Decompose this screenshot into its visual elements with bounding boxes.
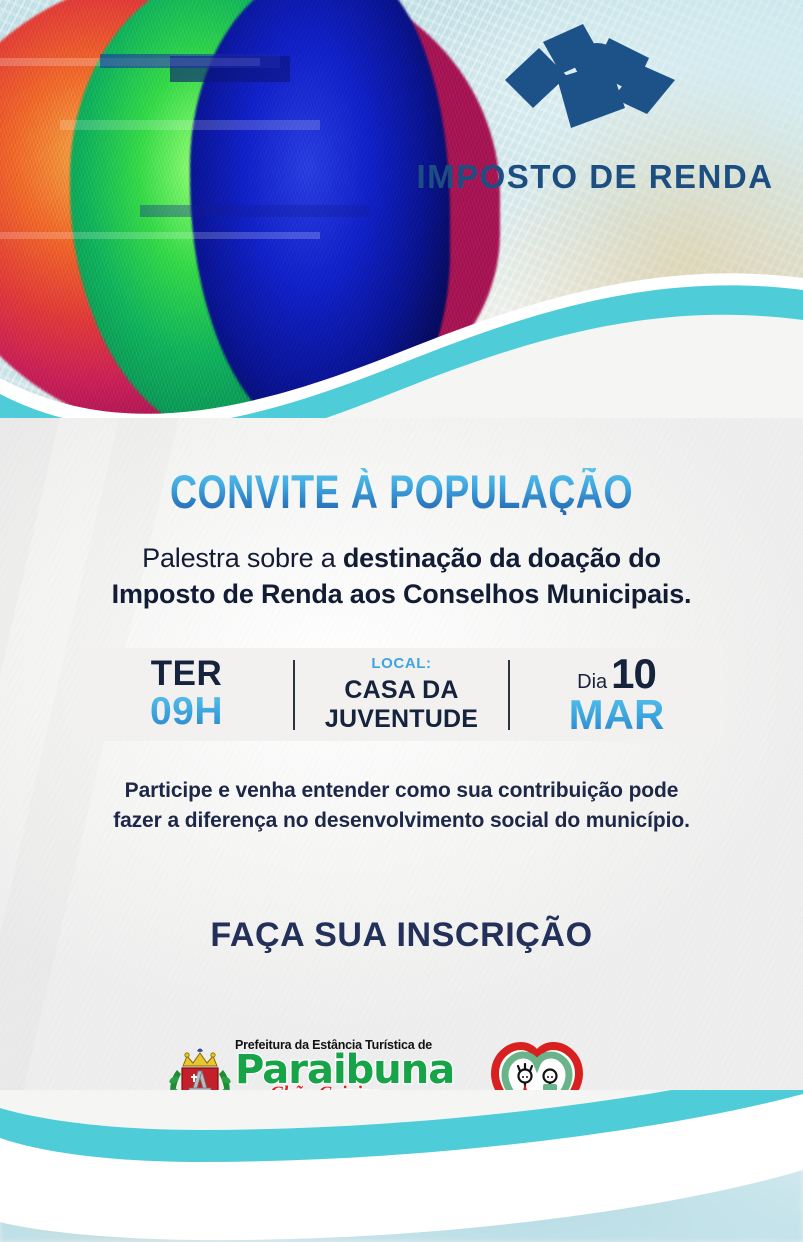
info-cell-day: TER 09H [80, 656, 293, 734]
header-banner: IMPOSTO DE RENDA [0, 0, 803, 420]
call-to-action: FAÇA SUA INSCRIÇÃO [0, 916, 803, 955]
bottom-wave-divider [0, 1090, 803, 1242]
glitch-bar [100, 54, 280, 68]
day-label: TER [80, 656, 293, 693]
glitch-bar [60, 120, 320, 130]
subtitle-line2: Imposto de Renda aos Conselhos Municipai… [0, 577, 803, 613]
location-line2: JUVENTUDE [295, 706, 508, 732]
date-month: MAR [510, 693, 723, 737]
date-word: Dia [577, 672, 607, 693]
receita-federal-logo-icon [497, 18, 697, 143]
glitch-bar [140, 205, 370, 217]
date-number: 10 [611, 652, 656, 696]
main-content: CONVITE À POPULAÇÃO Palestra sobre a des… [0, 418, 803, 613]
description-paragraph: Participe e venha entender como sua cont… [0, 776, 803, 836]
page-title: CONVITE À POPULAÇÃO [80, 468, 722, 515]
location-line1: CASA DA [295, 677, 508, 703]
paragraph-line2: fazer a diferença no desenvolvimento soc… [0, 806, 803, 836]
info-cell-date: Dia 10 MAR [510, 652, 723, 736]
location-label: LOCAL: [295, 656, 508, 672]
glitch-bar [0, 232, 320, 239]
event-info-bar: TER 09H LOCAL: CASA DA JUVENTUDE Dia 10 … [80, 648, 723, 741]
date-row: Dia 10 [510, 652, 723, 696]
header-logo-title: IMPOSTO DE RENDA [405, 158, 785, 196]
subtitle: Palestra sobre a destinação da doação do… [0, 541, 803, 613]
paragraph-line1: Participe e venha entender como sua cont… [0, 776, 803, 806]
poster: IMPOSTO DE RENDA CONVITE À POPULAÇÃO Pal… [0, 0, 803, 1242]
prefeitura-city-name: Paraibuna [235, 1051, 415, 1089]
subtitle-normal: Palestra sobre a [142, 543, 343, 573]
time-label: 09H [80, 692, 293, 733]
info-cell-location: LOCAL: CASA DA JUVENTUDE [295, 656, 508, 732]
subtitle-bold: destinação da doação do [343, 543, 661, 573]
top-wave-divider [0, 260, 803, 420]
bottom-wave-area [0, 1090, 803, 1242]
